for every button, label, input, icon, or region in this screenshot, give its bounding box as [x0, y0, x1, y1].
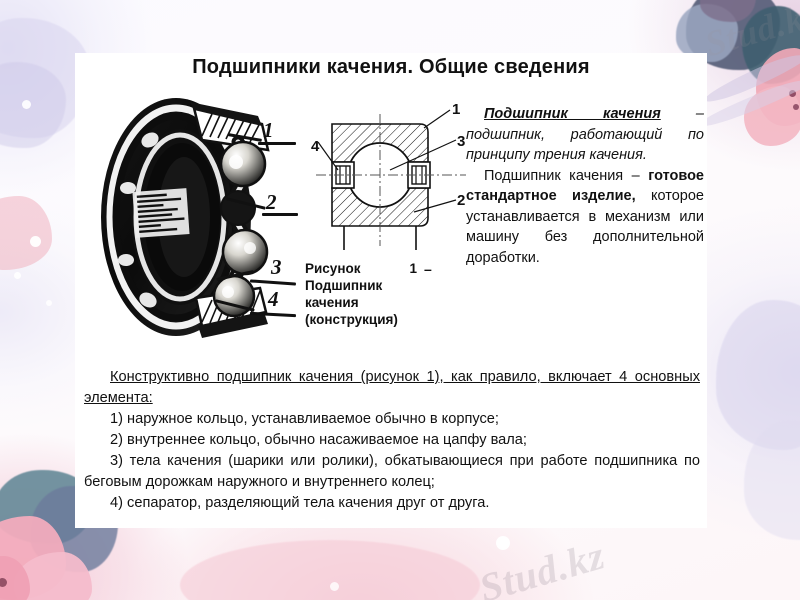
body-intro-underlined: Конструктивно подшипник качения (рисунок…	[84, 369, 700, 406]
figure-caption-line4: (конструкция)	[305, 311, 420, 328]
section-label-3: 3	[457, 133, 465, 150]
figure-caption-line3: качения	[305, 294, 420, 311]
figure-caption-line2: Подшипник	[305, 277, 420, 294]
figure-caption-row1: Рисунок 1	[305, 260, 417, 277]
body-item-4: 4) сепаратор, разделяющий тела качения д…	[84, 493, 700, 514]
bearing-cross-section-drawing	[316, 100, 466, 252]
section-label-2: 2	[457, 192, 465, 209]
definition-paragraph-2: Подшипник качения – готовое стандартное …	[466, 166, 704, 269]
dot-white-left-b	[14, 272, 21, 279]
cross-section-svg	[316, 100, 466, 252]
definition-column: Подшипник качения – подшипник, работающи…	[466, 104, 704, 268]
page-title: Подшипники качения. Общие сведения	[75, 56, 707, 79]
dot-white-tl	[22, 100, 31, 109]
body-text-block: Конструктивно подшипник качения (рисунок…	[84, 367, 700, 514]
dot-white-bc	[496, 536, 510, 550]
figure-caption-number: 1	[409, 260, 417, 277]
photo-leader-line-2	[262, 213, 298, 216]
bearing-cutaway-illustration	[98, 92, 288, 342]
definition-term: Подшипник качения	[484, 106, 661, 122]
bearing-cutaway-svg	[98, 92, 288, 342]
photo-label-3: 3	[271, 255, 282, 280]
body-item-2: 2) внутреннее кольцо, обычно насаживаемо…	[84, 430, 700, 451]
figure-caption-word: Рисунок	[305, 260, 360, 277]
section-label-1: 1	[452, 101, 460, 118]
photo-label-1: 1	[263, 118, 274, 143]
dot-white-left-a	[30, 236, 41, 247]
bearing-marking	[132, 188, 189, 238]
figure-caption-dash: –	[424, 261, 432, 277]
body-item-1: 1) наружное кольцо, устанавливаемое обыч…	[84, 409, 700, 430]
body-intro: Конструктивно подшипник качения (рисунок…	[84, 367, 700, 409]
photo-label-2: 2	[266, 190, 277, 215]
photo-label-4: 4	[268, 287, 279, 312]
definition-paragraph-1: Подшипник качения – подшипник, работающи…	[466, 104, 704, 166]
dot-white-bc-2	[330, 582, 339, 591]
definition-paragraph-2-a: Подшипник качения –	[484, 168, 648, 184]
berry-dot-b	[793, 104, 799, 110]
photo-leader-line-1	[258, 142, 296, 145]
figure-caption: Рисунок 1 Подшипник качения (конструкция…	[305, 260, 420, 328]
dot-white-left-c	[46, 300, 52, 306]
slide-canvas: Stud.kz Stud.kz Stud.kz Stud.kz Stud.kz …	[0, 0, 800, 600]
section-label-4: 4	[311, 138, 319, 155]
body-item-3: 3) тела качения (шарики или ролики), обк…	[84, 451, 700, 493]
